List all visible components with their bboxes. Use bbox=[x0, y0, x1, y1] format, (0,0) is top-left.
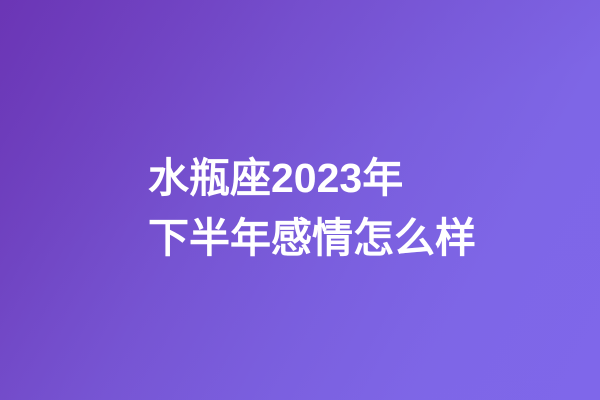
article-title-banner: 水瓶座2023年 下半年感情怎么样 bbox=[0, 0, 600, 400]
page-title-line-2: 下半年感情怎么样 bbox=[148, 208, 568, 268]
page-title: 水瓶座2023年 下半年感情怎么样 bbox=[148, 148, 568, 268]
page-title-line-1: 水瓶座2023年 bbox=[148, 148, 568, 208]
